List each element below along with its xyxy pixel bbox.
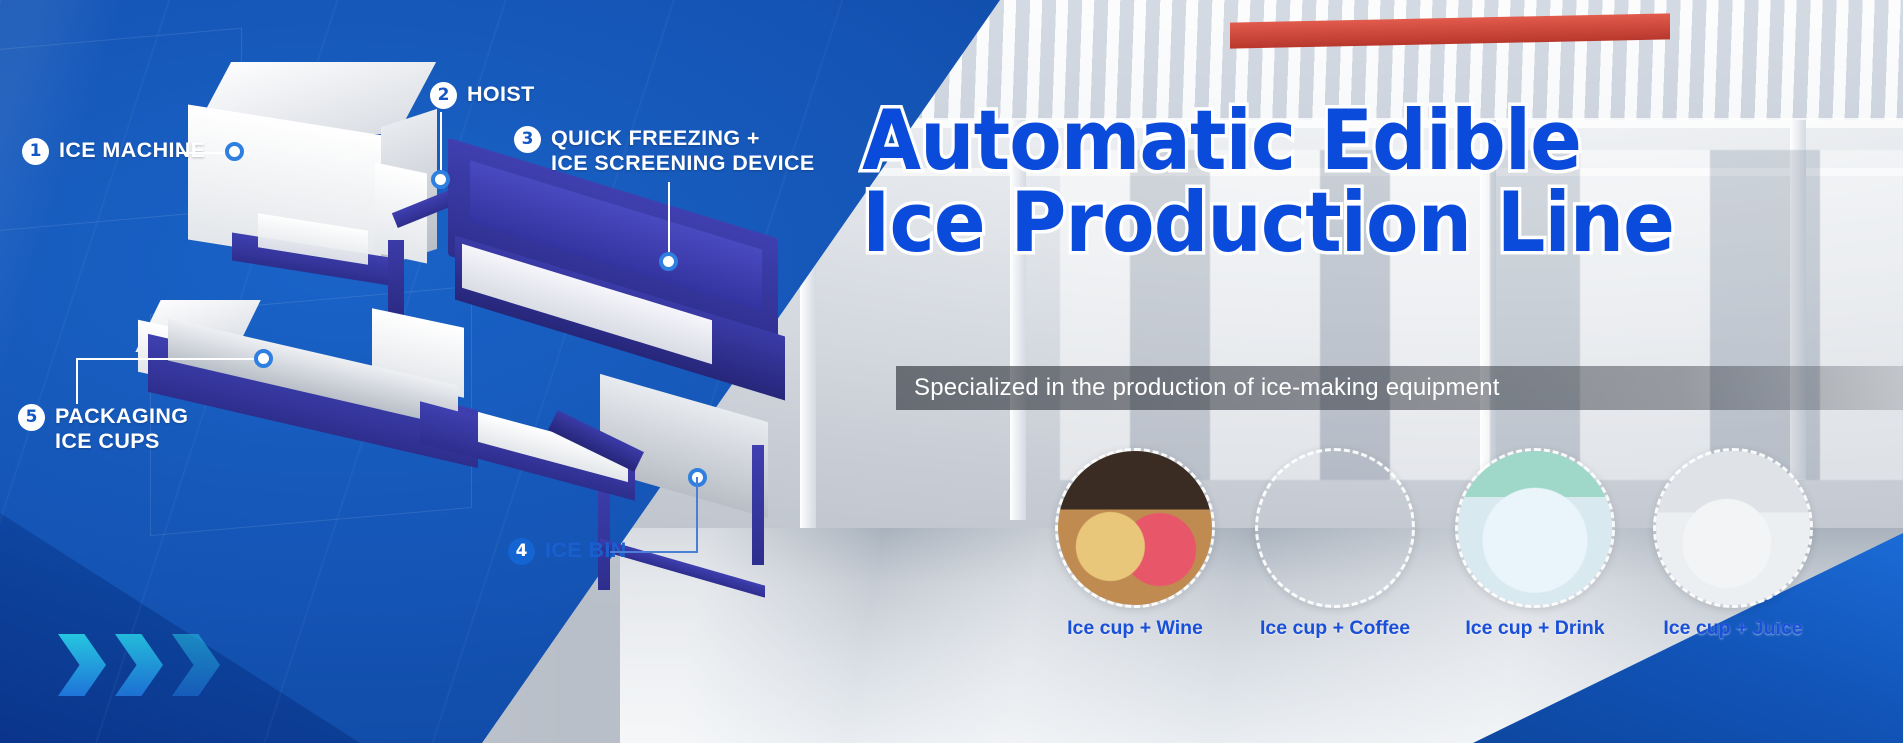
callout-number-2: 2 [430,82,457,109]
hotspot-dot-5[interactable] [254,349,273,368]
chevron-right-icon [58,634,106,696]
product-photo-circle [1455,448,1615,608]
product-item-wine[interactable]: Ice cup + Wine [1055,448,1215,640]
callout-label-line-2: ICE CUPS [55,429,160,453]
title-line-2: Ice Production Line [862,182,1773,264]
product-photo-circle [1255,448,1415,608]
product-item-juice[interactable]: Ice cup + Juice [1653,448,1813,640]
leader-line-5 [76,358,78,404]
product-caption-coffee: Ice cup + Coffee [1255,617,1415,640]
product-item-drink[interactable]: Ice cup + Drink [1455,448,1615,640]
product-gallery: Ice cup + Wine Ice cup + Coffee Ice cup … [1055,448,1855,638]
chevron-right-icon [115,634,163,696]
callout-label-hoist: HOIST [467,82,535,107]
callout-number-1: 1 [22,138,49,165]
product-photo-circle [1653,448,1813,608]
iced-lemon-juice-photo [1656,451,1810,605]
iced-wine-cups-photo [1058,451,1212,605]
callout-quick-freezing[interactable]: 3 QUICK FREEZING + ICE SCREENING DEVICE [514,126,815,176]
page-title: Automatic Edible Ice Production Line [862,100,1773,264]
leader-line-3 [668,182,670,260]
callout-label-line-2: ICE SCREENING DEVICE [551,151,815,175]
leader-line-4b [696,477,698,553]
callout-label-quick-freezing: QUICK FREEZING + ICE SCREENING DEVICE [551,126,815,176]
product-photo-circle [1055,448,1215,608]
product-item-coffee[interactable]: Ice cup + Coffee [1255,448,1415,640]
hotspot-dot-2[interactable] [431,170,450,189]
leader-line-2 [440,112,442,174]
callout-ice-bin[interactable]: 4 ICE BIN [508,538,627,565]
callout-label-line-1: PACKAGING [55,404,188,428]
callout-number-4: 4 [508,538,535,565]
callout-number-3: 3 [514,126,541,153]
callout-packaging[interactable]: 5 PACKAGING ICE CUPS [18,404,188,454]
product-caption-juice: Ice cup + Juice [1653,617,1813,640]
callout-label-packaging: PACKAGING ICE CUPS [55,404,188,454]
callout-hoist[interactable]: 2 HOIST [430,82,535,109]
chevron-group [58,634,220,696]
leader-line-5b [76,358,262,360]
product-caption-wine: Ice cup + Wine [1055,617,1215,640]
hotspot-dot-1[interactable] [225,142,244,161]
callout-label-ice-machine: ICE MACHINE [59,138,206,163]
product-caption-drink: Ice cup + Drink [1455,617,1615,640]
ice-bin-leg [752,445,764,565]
chevron-right-icon [172,634,220,696]
iced-drink-bowl-photo [1458,451,1612,605]
production-line-illustration [0,0,1000,743]
hotspot-dot-3[interactable] [659,252,678,271]
subtitle-text: Specialized in the production of ice-mak… [896,374,1500,402]
leader-line-4 [610,551,696,553]
iced-coffee-cup-photo [1258,451,1412,605]
callout-label-line-1: QUICK FREEZING + [551,126,760,150]
callout-number-5: 5 [18,404,45,431]
product-banner: 1 ICE MACHINE 2 HOIST 3 QUICK FREEZING +… [0,0,1903,743]
subtitle-bar: Specialized in the production of ice-mak… [896,366,1903,410]
